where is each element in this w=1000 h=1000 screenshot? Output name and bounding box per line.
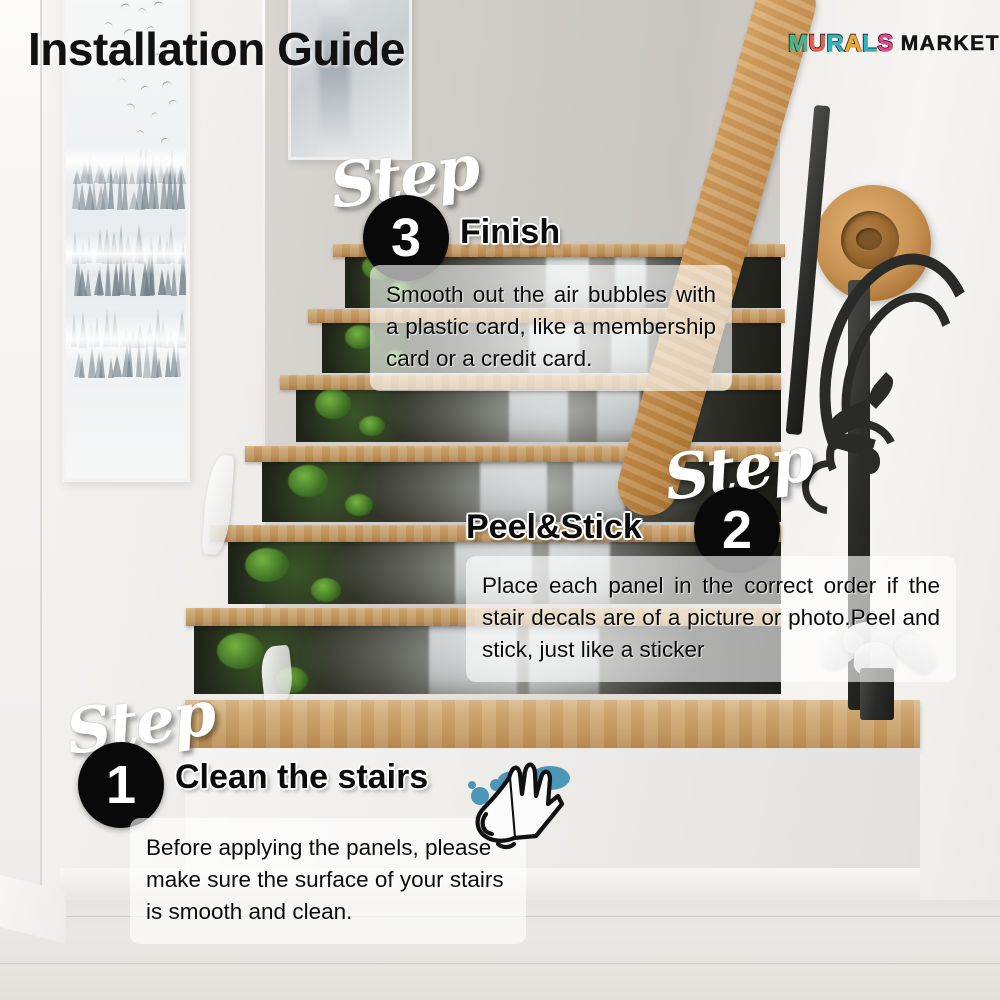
iron-flower-bud xyxy=(858,448,880,474)
peeling-decal-corner-lower xyxy=(259,645,295,708)
brand-letter-1: U xyxy=(809,30,827,58)
step-1-heading: Clean the stairs xyxy=(175,758,428,797)
brand-letter-4: L xyxy=(862,30,877,58)
brand-letter-3: A xyxy=(844,30,862,58)
brand-letter-5: S xyxy=(877,30,894,58)
step-1-number: 1 xyxy=(78,742,164,828)
floor-tile-seam-2 xyxy=(0,963,1000,964)
step-3-body: Smooth out the air bubbles with a plasti… xyxy=(370,265,732,391)
page-title: Installation Guide xyxy=(28,22,405,76)
brand-letter-2: R xyxy=(826,30,844,58)
brand-logo-murals: MURALS xyxy=(788,30,894,58)
brand-letter-0: M xyxy=(788,30,809,58)
step-2-heading: Peel&Stick xyxy=(466,508,642,547)
hand-and-cloth xyxy=(478,765,562,847)
brand-logo[interactable]: MURALS MARKET xyxy=(788,30,1000,58)
brand-logo-market: MARKET xyxy=(901,32,1000,56)
step-3-heading: Finish xyxy=(460,213,560,252)
cleaning-hand-icon xyxy=(462,752,580,858)
installation-guide-infographic: Installation Guide MURALS MARKET Step 3 … xyxy=(0,0,1000,1000)
step-2-body: Place each panel in the correct order if… xyxy=(466,556,956,682)
